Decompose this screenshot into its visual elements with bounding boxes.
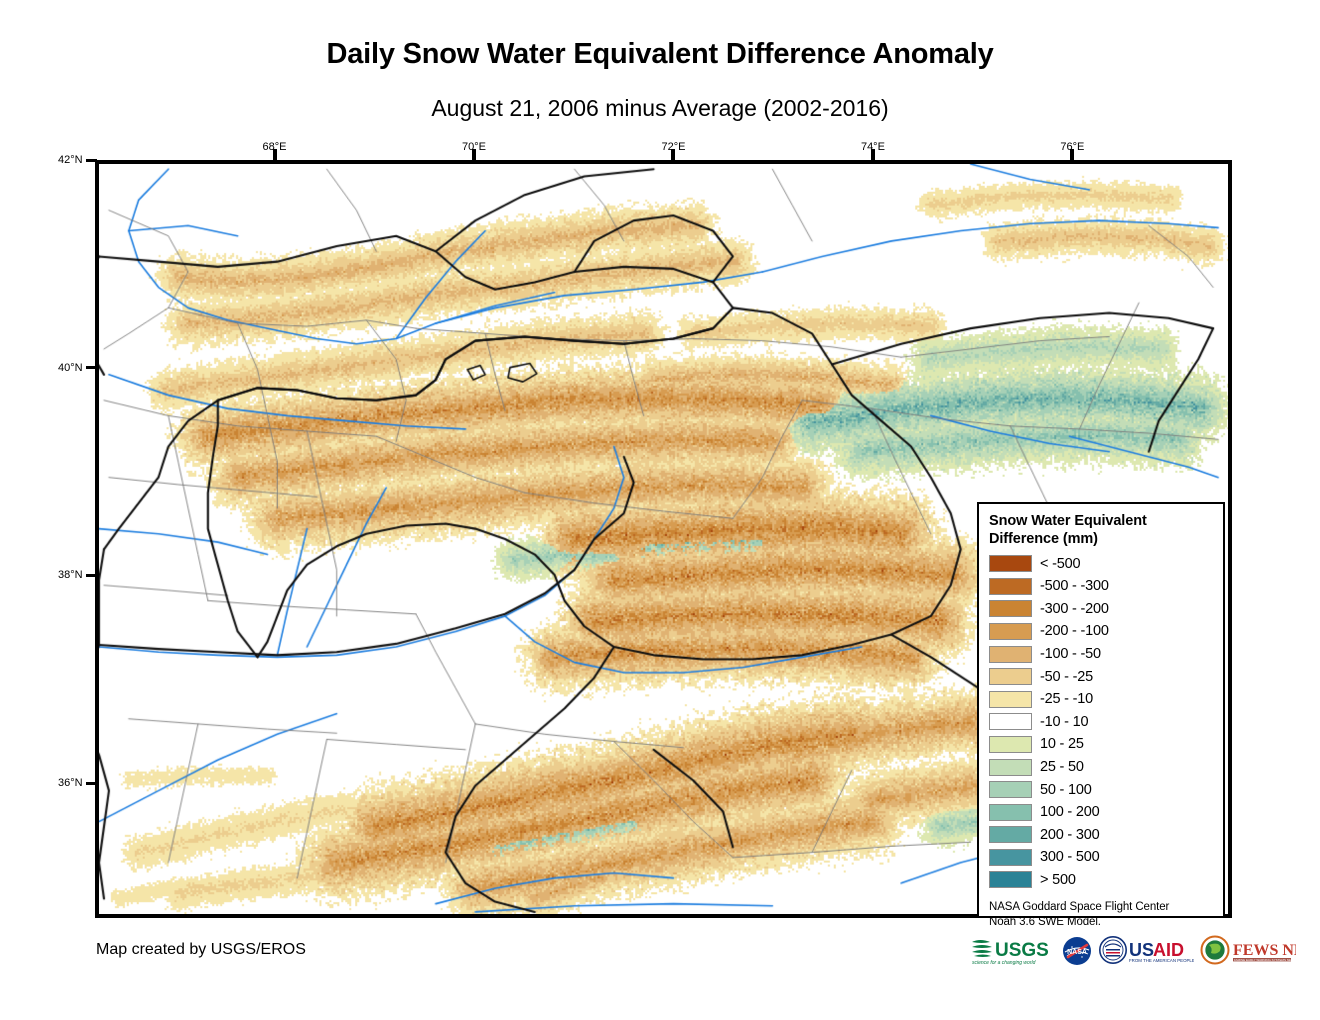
usgs-logo: USGS science for a changing world	[970, 935, 1056, 967]
longitude-label: 68°E	[263, 141, 287, 153]
legend-entry: -10 - 10	[989, 711, 1223, 734]
attribution-line2: Noah 3.6 SWE Model.	[989, 915, 1223, 930]
svg-text:FAMINE EARLY WARNING SYSTEMS N: FAMINE EARLY WARNING SYSTEMS NETWORK	[1234, 958, 1296, 962]
latitude-label: 36°N	[58, 777, 83, 789]
legend-entry-label: -200 - -100	[1040, 623, 1109, 639]
legend-color-swatch	[989, 668, 1032, 685]
legend-color-swatch	[989, 781, 1032, 798]
legend-panel: Snow Water Equivalent Difference (mm) < …	[977, 502, 1225, 918]
legend-entry-label: 50 - 100	[1040, 782, 1092, 798]
legend-title: Snow Water Equivalent Difference (mm)	[989, 513, 1223, 548]
longitude-label: 76°E	[1060, 141, 1084, 153]
svg-text:AID: AID	[1153, 940, 1184, 960]
legend-entry: -100 - -50	[989, 643, 1223, 666]
legend-entry: -300 - -200	[989, 598, 1223, 621]
legend-color-swatch	[989, 578, 1032, 595]
legend-entry: 50 - 100	[989, 778, 1223, 801]
legend-entry: 25 - 50	[989, 756, 1223, 779]
longitude-label: 72°E	[661, 141, 685, 153]
svg-text:US: US	[1129, 940, 1154, 960]
legend-color-swatch	[989, 804, 1032, 821]
nasa-logo: NASA	[1062, 935, 1092, 967]
map-credit: Map created by USGS/EROS	[96, 941, 306, 959]
attribution-line1: NASA Goddard Space Flight Center	[989, 900, 1223, 915]
legend-entry-label: > 500	[1040, 872, 1076, 888]
legend-entry: 100 - 200	[989, 801, 1223, 824]
legend-color-swatch	[989, 826, 1032, 843]
legend-attribution: NASA Goddard Space Flight Center Noah 3.…	[989, 900, 1223, 930]
nasa-logo-icon: NASA	[1062, 936, 1092, 966]
svg-text:FROM THE AMERICAN PEOPLE: FROM THE AMERICAN PEOPLE	[1129, 958, 1194, 963]
legend-color-swatch	[989, 713, 1032, 730]
latitude-label: 38°N	[58, 569, 83, 581]
logo-strip: USGS science for a changing world NASA U…	[970, 934, 1296, 968]
legend-entry-label: -100 - -50	[1040, 646, 1101, 662]
legend-entry-list: < -500-500 - -300-300 - -200-200 - -100-…	[989, 552, 1223, 891]
svg-text:science for a changing world: science for a changing world	[972, 960, 1036, 966]
latitude-label: 40°N	[58, 362, 83, 374]
legend-entry-label: < -500	[1040, 556, 1080, 572]
fewsnet-logo-icon: FEWS NET FAMINE EARLY WARNING SYSTEMS NE…	[1200, 935, 1296, 967]
legend-entry: 200 - 300	[989, 824, 1223, 847]
legend-entry-label: 300 - 500	[1040, 849, 1099, 865]
legend-color-swatch	[989, 600, 1032, 617]
legend-entry-label: -50 - -25	[1040, 669, 1093, 685]
latitude-label: 42°N	[58, 154, 83, 166]
legend-entry-label: -25 - -10	[1040, 691, 1093, 707]
legend-entry: -50 - -25	[989, 665, 1223, 688]
legend-entry: -200 - -100	[989, 620, 1223, 643]
legend-title-line1: Snow Water Equivalent	[989, 513, 1223, 531]
svg-text:FEWS NET: FEWS NET	[1233, 942, 1296, 959]
legend-color-swatch	[989, 759, 1032, 776]
svg-text:USGS: USGS	[995, 940, 1049, 961]
fewsnet-logo: FEWS NET FAMINE EARLY WARNING SYSTEMS NE…	[1200, 935, 1296, 967]
legend-title-line2: Difference (mm)	[989, 531, 1223, 549]
legend-entry-label: -500 - -300	[1040, 578, 1109, 594]
usaid-logo: US AID FROM THE AMERICAN PEOPLE	[1098, 935, 1194, 967]
legend-color-swatch	[989, 691, 1032, 708]
longitude-label: 74°E	[861, 141, 885, 153]
legend-entry: 10 - 25	[989, 733, 1223, 756]
legend-entry-label: -10 - 10	[1040, 714, 1088, 730]
legend-color-swatch	[989, 871, 1032, 888]
page-title: Daily Snow Water Equivalent Difference A…	[0, 38, 1320, 71]
longitude-label: 70°E	[462, 141, 486, 153]
legend-entry-label: 25 - 50	[1040, 759, 1084, 775]
legend-color-swatch	[989, 849, 1032, 866]
legend-color-swatch	[989, 646, 1032, 663]
legend-entry: -25 - -10	[989, 688, 1223, 711]
legend-color-swatch	[989, 623, 1032, 640]
legend-color-swatch	[989, 555, 1032, 572]
legend-entry-label: 200 - 300	[1040, 827, 1099, 843]
legend-entry-label: 100 - 200	[1040, 804, 1099, 820]
usgs-logo-icon: USGS science for a changing world	[970, 935, 1056, 967]
legend-entry: 300 - 500	[989, 846, 1223, 869]
page-subtitle: August 21, 2006 minus Average (2002-2016…	[0, 95, 1320, 122]
legend-entry-label: 10 - 25	[1040, 736, 1084, 752]
legend-entry: < -500	[989, 552, 1223, 575]
legend-entry: > 500	[989, 869, 1223, 892]
legend-entry: -500 - -300	[989, 575, 1223, 598]
legend-color-swatch	[989, 736, 1032, 753]
legend-entry-label: -300 - -200	[1040, 601, 1109, 617]
svg-text:NASA: NASA	[1067, 949, 1087, 956]
usaid-logo-icon: US AID FROM THE AMERICAN PEOPLE	[1098, 935, 1194, 967]
